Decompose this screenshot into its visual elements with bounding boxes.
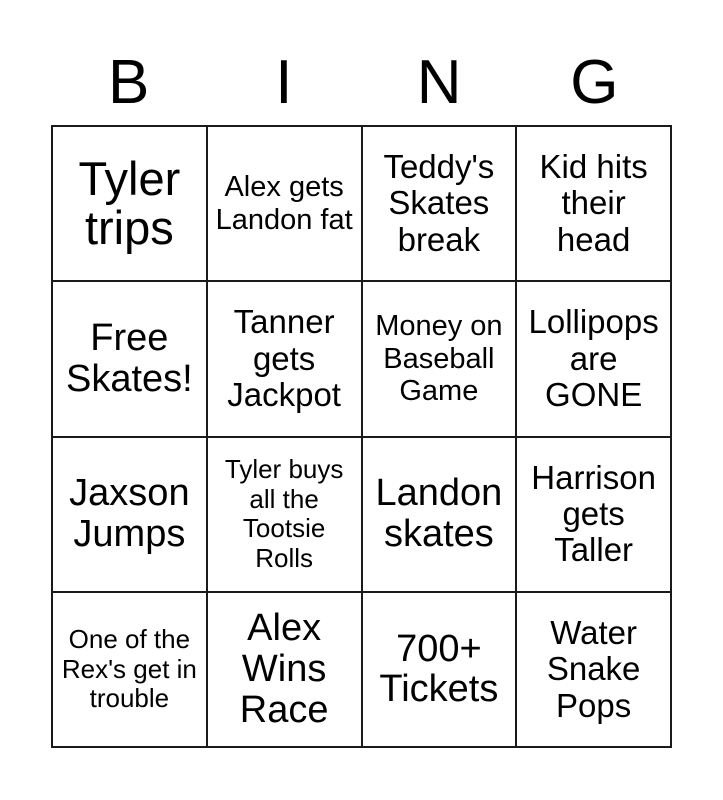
bingo-cell-label: Water Snake Pops bbox=[522, 615, 665, 724]
bingo-cell-label: Alex Wins Race bbox=[213, 608, 356, 730]
bingo-cell[interactable]: Landon skates bbox=[363, 438, 518, 593]
bingo-cell-label: One of the Rex's get in trouble bbox=[58, 625, 201, 714]
bingo-grid: Tyler trips Alex gets Landon fat Teddy's… bbox=[51, 125, 672, 748]
bingo-cell[interactable]: Kid hits their head bbox=[517, 127, 672, 282]
bingo-cell-label: Landon skates bbox=[368, 473, 511, 554]
header-letter-g: G bbox=[517, 48, 672, 118]
bingo-header: B I N G bbox=[51, 44, 672, 122]
bingo-card: B I N G Tyler trips Alex gets Landon fat… bbox=[0, 0, 723, 800]
bingo-cell-label: Harrison gets Taller bbox=[522, 460, 665, 569]
bingo-cell[interactable]: Tanner gets Jackpot bbox=[208, 282, 363, 437]
bingo-cell[interactable]: Alex gets Landon fat bbox=[208, 127, 363, 282]
bingo-cell[interactable]: Jaxson Jumps bbox=[53, 438, 208, 593]
bingo-cell[interactable]: Lollipops are GONE bbox=[517, 282, 672, 437]
bingo-cell-label: Money on Baseball Game bbox=[368, 310, 511, 407]
bingo-cell[interactable]: One of the Rex's get in trouble bbox=[53, 593, 208, 748]
bingo-cell[interactable]: Alex Wins Race bbox=[208, 593, 363, 748]
header-letter-b: B bbox=[51, 48, 206, 118]
bingo-cell-label: Tanner gets Jackpot bbox=[213, 304, 356, 413]
bingo-cell-label: Jaxson Jumps bbox=[58, 473, 201, 554]
bingo-cell-label: 700+ Tickets bbox=[368, 629, 511, 710]
bingo-cell[interactable]: Tyler buys all the Tootsie Rolls bbox=[208, 438, 363, 593]
header-letter-i: I bbox=[206, 48, 361, 118]
bingo-cell-label: Tyler buys all the Tootsie Rolls bbox=[213, 455, 356, 574]
bingo-cell-label: Teddy's Skates break bbox=[368, 149, 511, 258]
bingo-cell-label: Alex gets Landon fat bbox=[213, 171, 356, 236]
bingo-cell[interactable]: 700+ Tickets bbox=[363, 593, 518, 748]
header-letter-n: N bbox=[362, 48, 517, 118]
bingo-cell[interactable]: Harrison gets Taller bbox=[517, 438, 672, 593]
bingo-cell-label: Tyler trips bbox=[58, 155, 201, 253]
bingo-cell[interactable]: Money on Baseball Game bbox=[363, 282, 518, 437]
bingo-cell-label: Kid hits their head bbox=[522, 149, 665, 258]
bingo-cell[interactable]: Free Skates! bbox=[53, 282, 208, 437]
bingo-cell-label: Free Skates! bbox=[58, 318, 201, 399]
bingo-cell[interactable]: Tyler trips bbox=[53, 127, 208, 282]
bingo-cell[interactable]: Teddy's Skates break bbox=[363, 127, 518, 282]
bingo-cell[interactable]: Water Snake Pops bbox=[517, 593, 672, 748]
bingo-cell-label: Lollipops are GONE bbox=[522, 304, 665, 413]
